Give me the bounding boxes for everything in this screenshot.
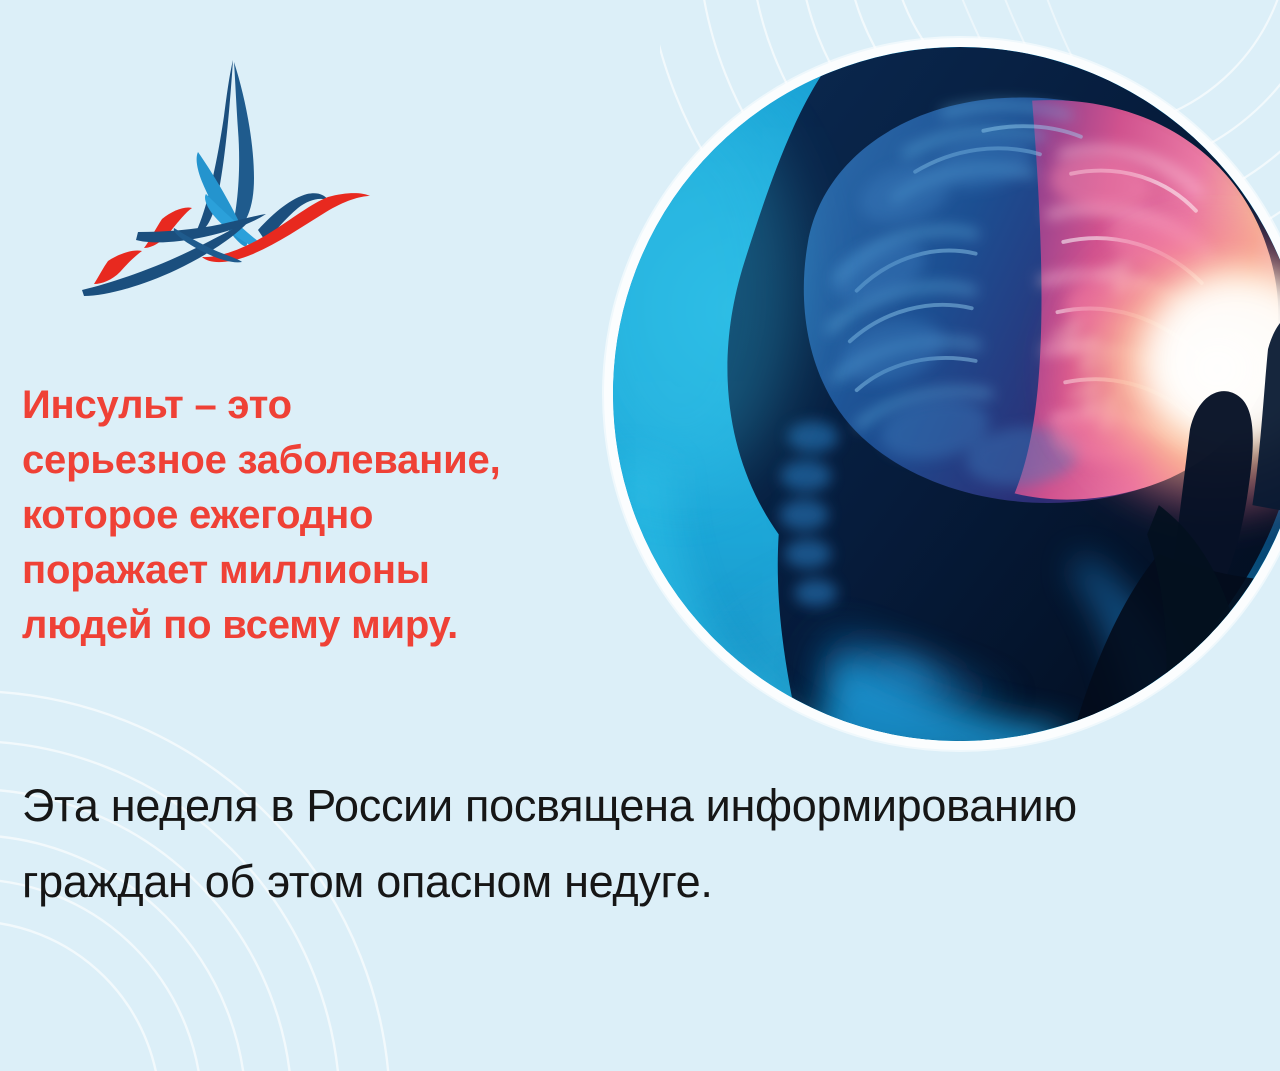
logo-wing-upper-dark-2 xyxy=(230,62,254,236)
body-text: Эта неделя в России посвящена информиров… xyxy=(22,768,1202,920)
poster-canvas: Инсульт – это серьезное заболевание, кот… xyxy=(0,0,1280,1071)
crane-bird-logo xyxy=(78,42,378,307)
brain-stroke-circle-image xyxy=(604,38,1280,750)
brain-illustration xyxy=(613,47,1280,741)
headline-text: Инсульт – это серьезное заболевание, кот… xyxy=(22,378,622,653)
